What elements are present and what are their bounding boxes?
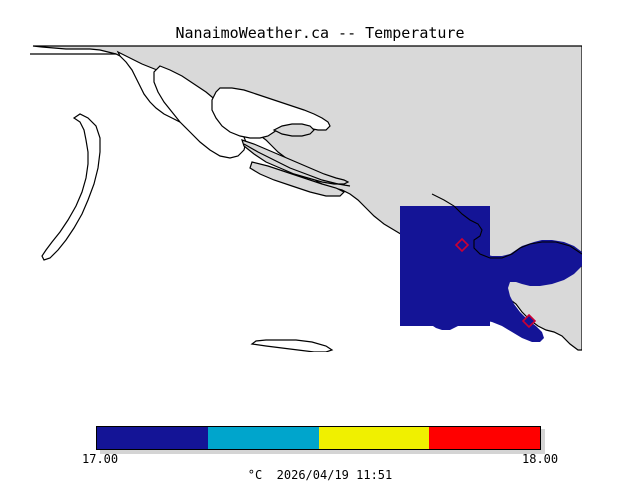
temperature-overlay-block xyxy=(400,206,490,326)
legend-tick-labels: 17.00 18.00 xyxy=(0,452,640,468)
map-graphic xyxy=(30,44,582,352)
weather-map-page: NanaimoWeather.ca -- Temperature xyxy=(0,0,640,480)
legend-band-1 xyxy=(97,427,208,449)
legend-max-label: 18.00 xyxy=(522,452,558,466)
legend-min-label: 17.00 xyxy=(82,452,118,466)
legend-band-2 xyxy=(208,427,319,449)
map-canvas[interactable] xyxy=(30,44,582,352)
legend-band-4 xyxy=(429,427,540,449)
legend: 17.00 18.00 °C 2026/04/19 11:51 xyxy=(0,424,640,480)
legend-color-bar[interactable] xyxy=(96,426,541,450)
legend-band-3 xyxy=(319,427,430,449)
page-title: NanaimoWeather.ca -- Temperature xyxy=(0,24,640,42)
